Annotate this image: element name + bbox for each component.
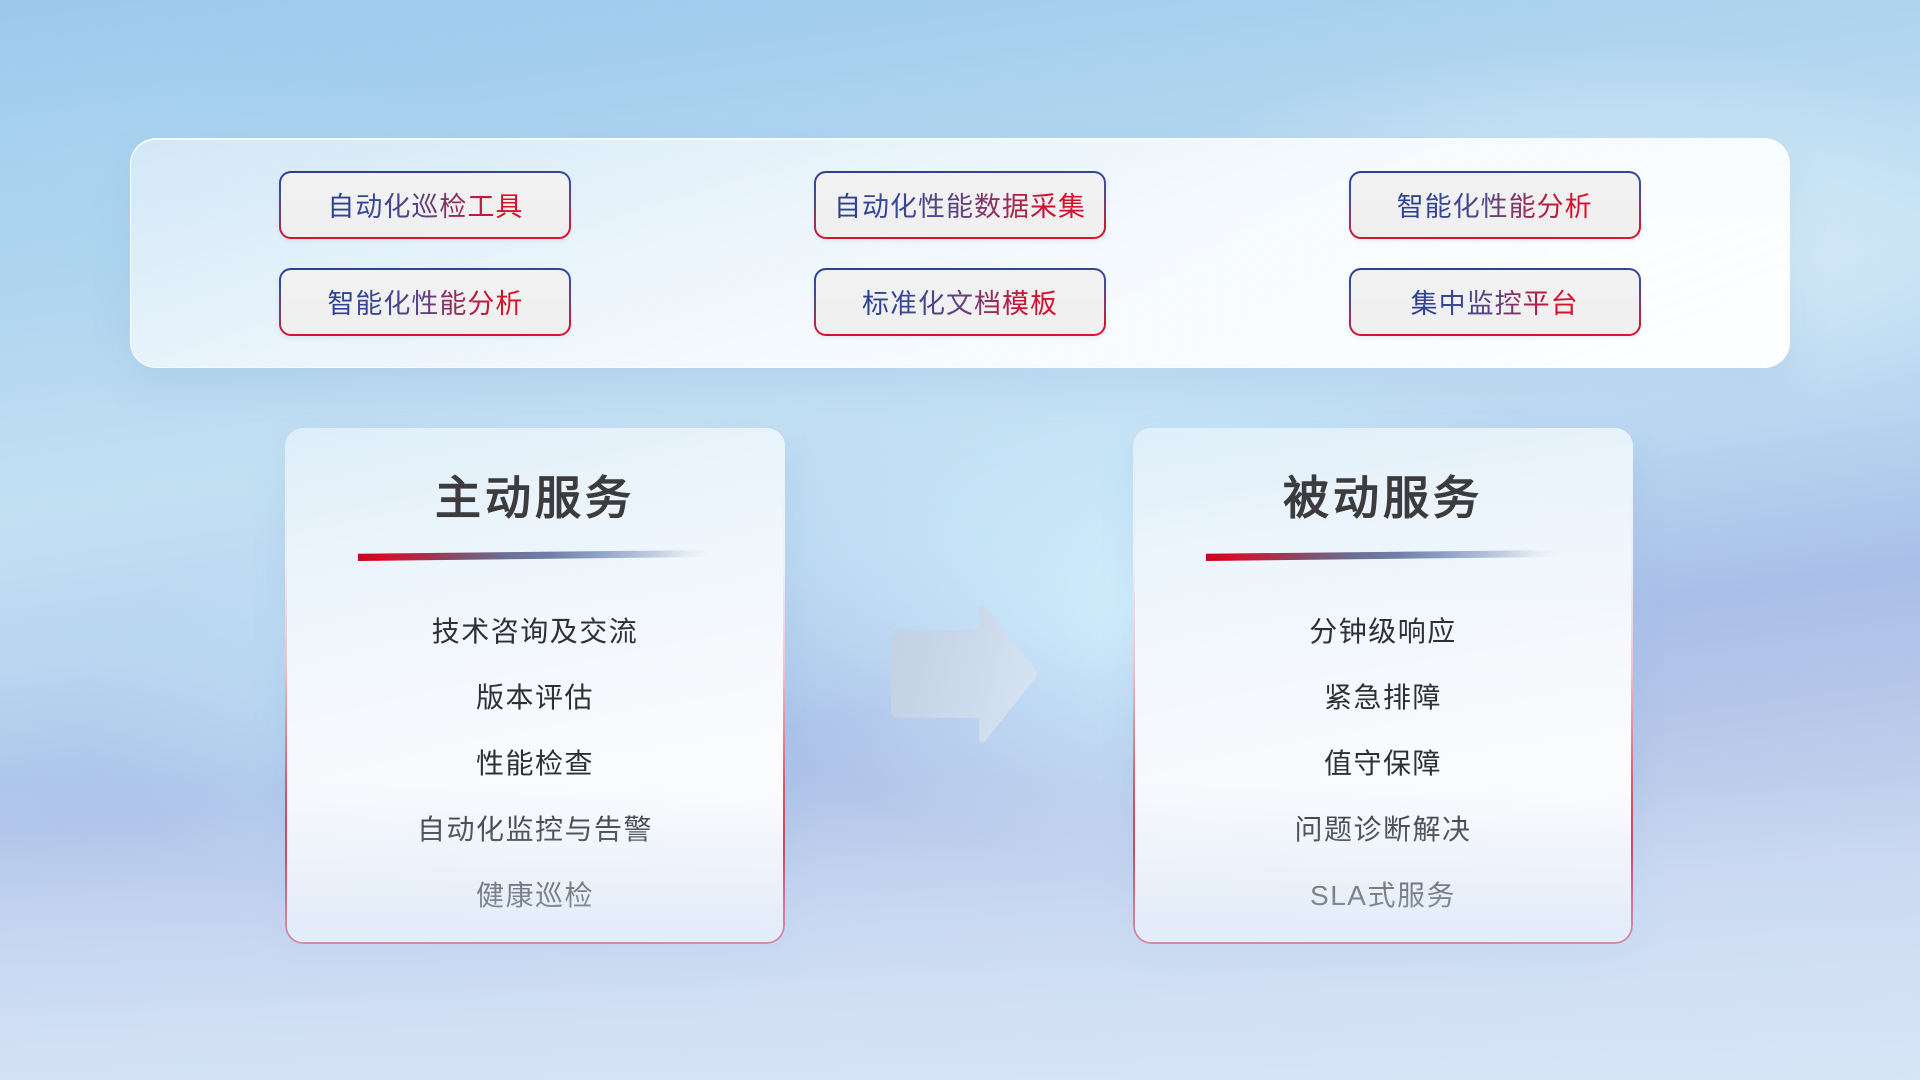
capability-pill-5[interactable]: 标准化文档模板 [814,268,1106,336]
service-card-passive: 被动服务 分钟级响应 紧急排障 值守保障 问题诊断解决 SLA式服务 [1133,428,1633,944]
service-list-item: 版本评估 [285,665,785,731]
capability-pill-label: 集中监控平台 [1411,282,1579,321]
card-divider [1206,550,1560,561]
capability-pill-2[interactable]: 自动化性能数据采集 [814,171,1106,239]
service-list-active: 技术咨询及交流 版本评估 性能检查 自动化监控与告警 健康巡检 [285,561,785,929]
service-card-active: 主动服务 技术咨询及交流 版本评估 性能检查 自动化监控与告警 健康巡检 [285,428,785,944]
capability-pill-label: 自动化巡检工具 [327,185,523,224]
service-list-item: 技术咨询及交流 [285,599,785,665]
service-list-item: 分钟级响应 [1133,599,1633,665]
card-title-passive: 被动服务 [1133,428,1633,528]
service-list-item: 紧急排障 [1133,665,1633,731]
capability-pill-1[interactable]: 自动化巡检工具 [279,171,571,239]
capability-pill-label: 智能化性能分析 [1397,185,1593,224]
service-list-item: 性能检查 [285,731,785,797]
service-list-item: 值守保障 [1133,731,1633,797]
capability-panel: 自动化巡检工具 自动化性能数据采集 智能化性能分析 智能化性能分析 标准化文档模… [130,138,1790,368]
service-list-item: 自动化监控与告警 [285,797,785,863]
infographic-stage: 自动化巡检工具 自动化性能数据采集 智能化性能分析 智能化性能分析 标准化文档模… [0,0,1920,1080]
capability-pill-3[interactable]: 智能化性能分析 [1349,171,1641,239]
service-list-item: SLA式服务 [1133,863,1633,929]
capability-pill-6[interactable]: 集中监控平台 [1349,268,1641,336]
card-divider [358,550,712,561]
capability-pill-label: 智能化性能分析 [327,282,523,321]
service-list-item: 问题诊断解决 [1133,797,1633,863]
capability-pill-4[interactable]: 智能化性能分析 [279,268,571,336]
arrow-right-icon [883,602,1039,744]
capability-pill-label: 标准化文档模板 [862,282,1058,321]
card-title-active: 主动服务 [285,428,785,528]
capability-pill-label: 自动化性能数据采集 [834,185,1086,224]
service-list-item: 健康巡检 [285,863,785,929]
service-list-passive: 分钟级响应 紧急排障 值守保障 问题诊断解决 SLA式服务 [1133,561,1633,929]
